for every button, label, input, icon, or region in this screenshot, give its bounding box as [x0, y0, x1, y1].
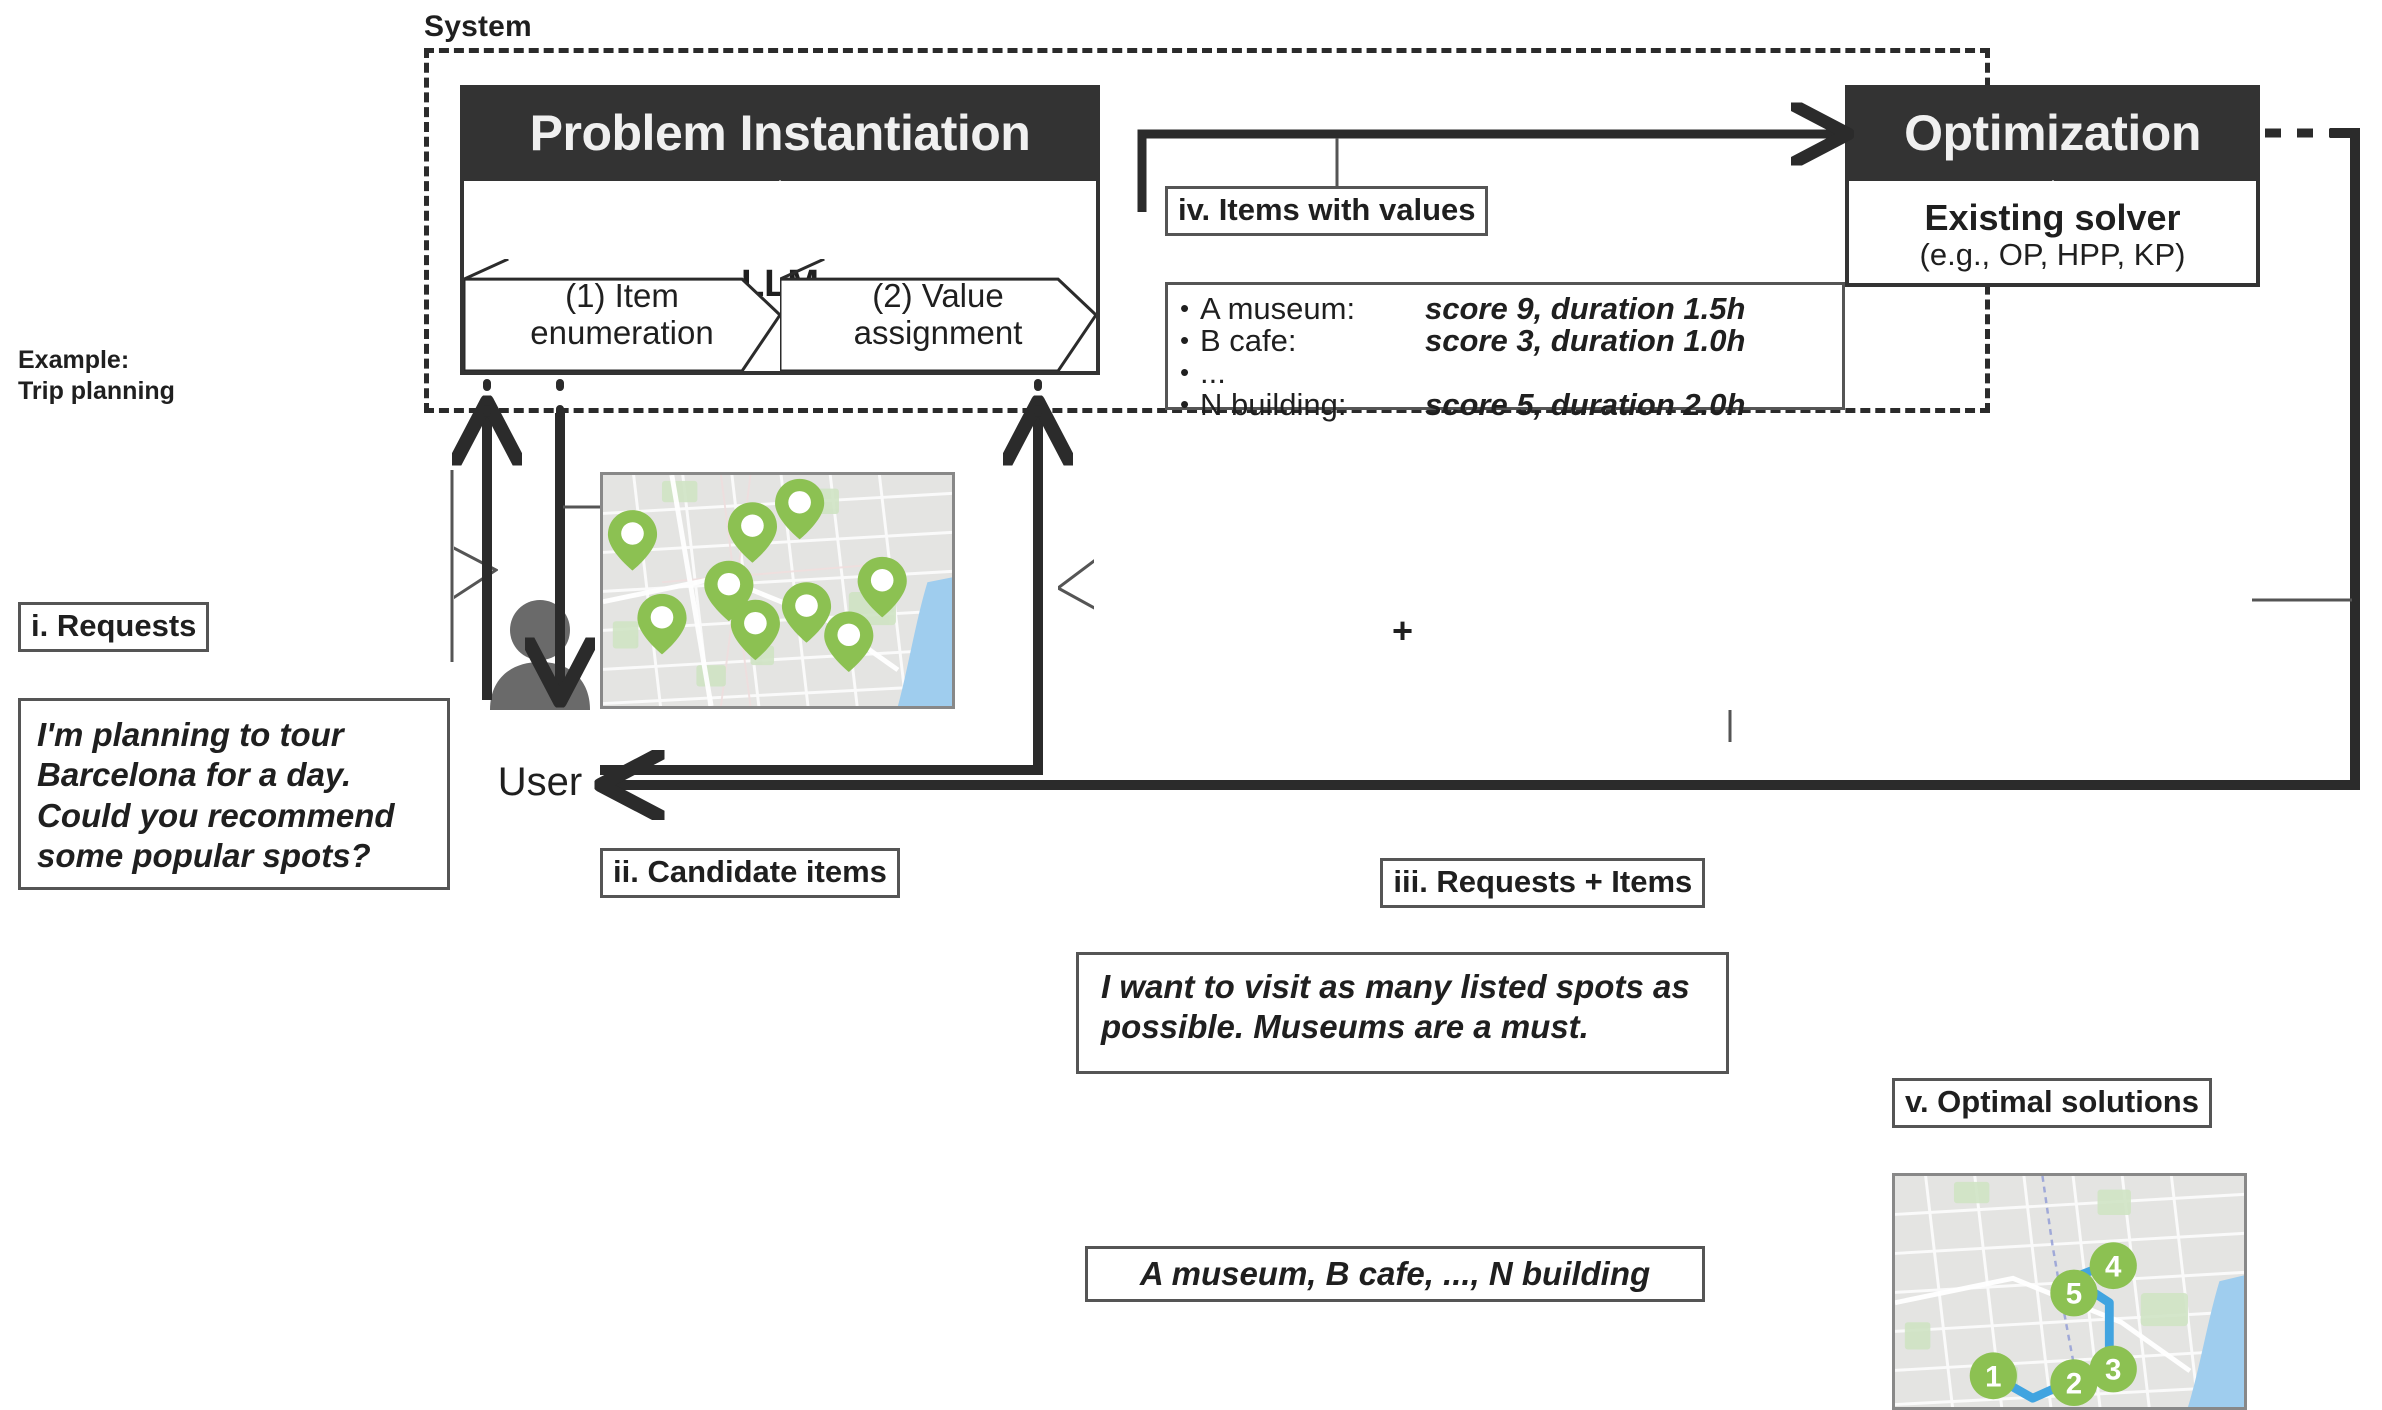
candidate-items-tab: ii. Candidate items [600, 848, 900, 898]
optimization-module[interactable]: Optimization Existing solver (e.g., OP, … [1845, 85, 2260, 287]
item-row: • N building: score 5, duration 2.0h [1168, 389, 1842, 419]
item-value: score 9, duration 1.5h [1425, 293, 1745, 324]
stop-1-label: 1 [1985, 1361, 2001, 1394]
optimal-solutions-map[interactable]: 1 2 3 4 5 [1892, 1173, 2247, 1410]
optimization-body: Existing solver (e.g., OP, HPP, KP) [1845, 181, 2260, 287]
speech-tail-icon [1058, 558, 1098, 614]
items-with-values-panel: • A museum: score 9, duration 1.5h • B c… [1165, 282, 1845, 410]
requests-items-text: I want to visit as many listed spots as … [1101, 967, 1706, 1046]
problem-instantiation-body: LLM (1) Item enumeration (2) Value [460, 181, 1100, 375]
step2-line1: (2) Value [868, 277, 1007, 314]
requests-items-list: A museum, B cafe, ..., N building [1085, 1246, 1705, 1302]
solver-examples: (e.g., OP, HPP, KP) [1920, 237, 2186, 273]
solver-label: Existing solver [1924, 197, 2180, 239]
requests-items-tab: iii. Requests + Items [1380, 858, 1705, 908]
step-item-enumeration[interactable]: (1) Item enumeration [464, 259, 780, 371]
pipeline-steps: (1) Item enumeration (2) Value assignmen… [464, 259, 1096, 371]
optimal-solutions-tab: v. Optimal solutions [1892, 1078, 2212, 1128]
requests-panel: I'm planning to tour Barcelona for a day… [18, 698, 450, 890]
bullet-icon: • [1180, 359, 1200, 385]
example-caption: Example: Trip planning [18, 345, 175, 408]
requests-tab: i. Requests [18, 602, 209, 652]
notch-icon [756, 180, 804, 202]
user-avatar-icon [480, 600, 600, 710]
step-value-assignment[interactable]: (2) Value assignment [780, 259, 1096, 371]
step1-line2: enumeration [526, 314, 717, 351]
item-name: N building: [1200, 389, 1425, 420]
example-caption-line1: Example: [18, 345, 175, 376]
user-label: User [470, 760, 610, 805]
route-stop-markers: 1 2 3 4 5 [1895, 1176, 2244, 1407]
item-name: A museum: [1200, 293, 1425, 324]
example-caption-line2: Trip planning [18, 376, 175, 407]
item-name: B cafe: [1200, 325, 1425, 356]
bullet-icon: • [1180, 295, 1200, 321]
bullet-icon: • [1180, 391, 1200, 417]
speech-tail-icon [450, 546, 498, 602]
step1-line1: (1) Item [561, 277, 683, 314]
stop-3-label: 3 [2105, 1354, 2121, 1387]
stop-5-label: 5 [2066, 1278, 2082, 1311]
problem-instantiation-module[interactable]: Problem Instantiation LLM (1) Item enume… [460, 85, 1100, 375]
item-row: • ... [1168, 357, 1842, 387]
requests-items-panel: I want to visit as many listed spots as … [1076, 952, 1729, 1074]
notch-icon [2029, 180, 2077, 202]
map-pins [603, 475, 952, 706]
optimization-title: Optimization [1845, 85, 2260, 181]
system-label: System [424, 10, 532, 44]
stop-2-label: 2 [2066, 1367, 2082, 1400]
item-value: score 5, duration 2.0h [1425, 389, 1745, 420]
items-with-values-tab: iv. Items with values [1165, 186, 1488, 236]
step2-line2: assignment [850, 314, 1027, 351]
item-row: • B cafe: score 3, duration 1.0h [1168, 325, 1842, 355]
item-row: • A museum: score 9, duration 1.5h [1168, 293, 1842, 323]
plus-symbol: + [1076, 610, 1729, 652]
problem-instantiation-title: Problem Instantiation [460, 85, 1100, 181]
requests-text: I'm planning to tour Barcelona for a day… [37, 715, 431, 876]
item-name: ... [1200, 357, 1425, 388]
stop-4-label: 4 [2105, 1251, 2122, 1284]
bullet-icon: • [1180, 327, 1200, 353]
item-value: score 3, duration 1.0h [1425, 325, 1745, 356]
candidate-items-map[interactable] [600, 472, 955, 709]
